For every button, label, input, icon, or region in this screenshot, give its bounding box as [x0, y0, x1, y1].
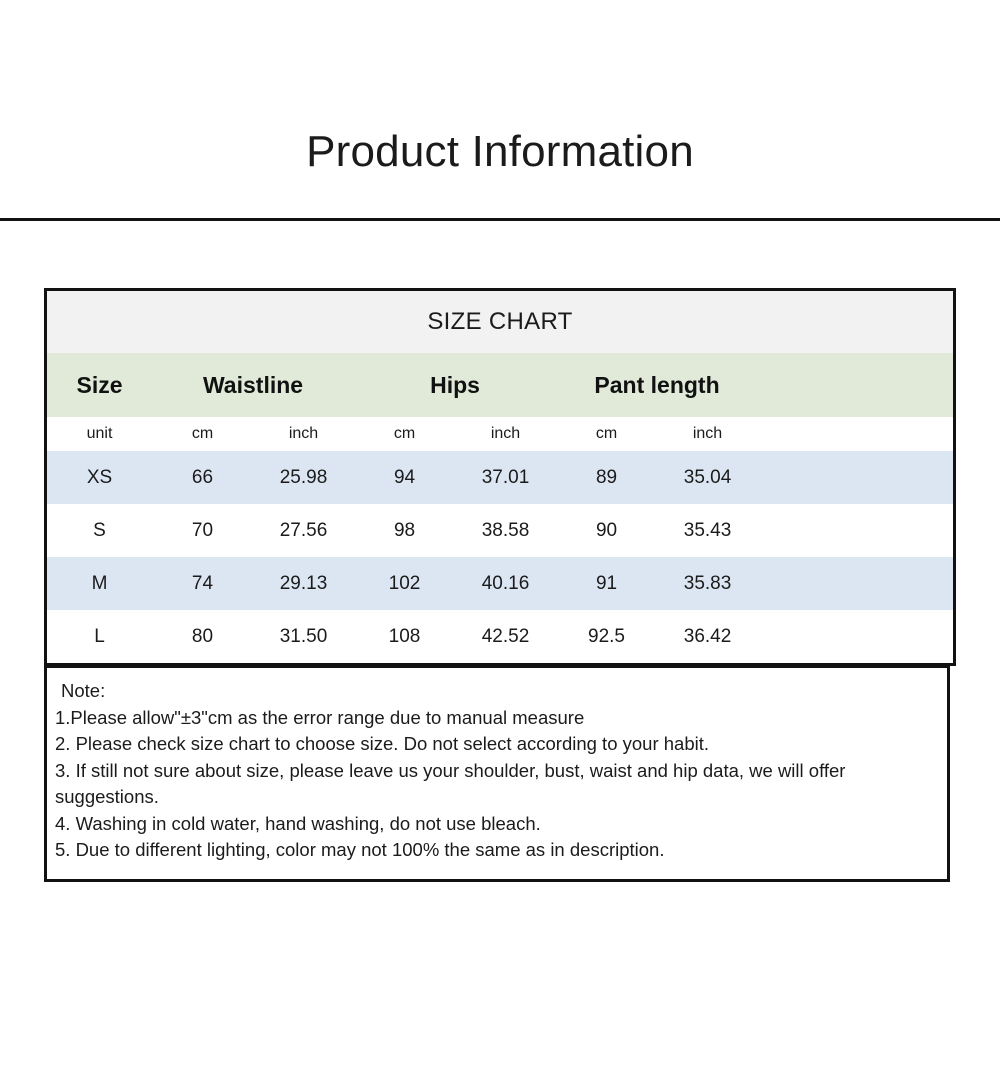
- cell-size: XS: [47, 451, 152, 504]
- cell-spacer: [758, 504, 953, 557]
- unit-cell-spacer: [758, 417, 953, 451]
- cell-hips-cm: 94: [354, 451, 455, 504]
- size-chart-banner: SIZE CHART: [47, 291, 953, 353]
- cell-hips-inch: 37.01: [455, 451, 556, 504]
- cell-waist-inch: 25.98: [253, 451, 354, 504]
- notes-heading: Note:: [55, 678, 939, 705]
- table-row: XS 66 25.98 94 37.01 89 35.04: [47, 451, 953, 504]
- unit-cell-waist-cm: cm: [152, 417, 253, 451]
- cell-spacer: [758, 610, 953, 663]
- cell-pant-inch: 36.42: [657, 610, 758, 663]
- page-title: Product Information: [0, 128, 1000, 176]
- unit-cell-hips-inch: inch: [455, 417, 556, 451]
- table-group-header-row: Size Waistline Hips Pant length: [47, 353, 953, 417]
- cell-pant-inch: 35.83: [657, 557, 758, 610]
- cell-hips-inch: 40.16: [455, 557, 556, 610]
- cell-waist-inch: 31.50: [253, 610, 354, 663]
- cell-waist-cm: 66: [152, 451, 253, 504]
- note-line-1: 1.Please allow"±3"cm as the error range …: [55, 705, 939, 732]
- size-chart-table: Size Waistline Hips Pant length unit cm …: [47, 353, 953, 663]
- title-divider-rule: [0, 218, 1000, 221]
- cell-size: L: [47, 610, 152, 663]
- cell-hips-inch: 42.52: [455, 610, 556, 663]
- cell-spacer: [758, 451, 953, 504]
- column-group-spacer: [758, 353, 953, 417]
- cell-size: S: [47, 504, 152, 557]
- cell-hips-cm: 102: [354, 557, 455, 610]
- cell-pant-cm: 90: [556, 504, 657, 557]
- cell-hips-cm: 98: [354, 504, 455, 557]
- cell-pant-inch: 35.43: [657, 504, 758, 557]
- cell-waist-cm: 74: [152, 557, 253, 610]
- cell-waist-cm: 70: [152, 504, 253, 557]
- unit-cell-hips-cm: cm: [354, 417, 455, 451]
- column-group-waistline: Waistline: [152, 353, 354, 417]
- note-line-2: 2. Please check size chart to choose siz…: [55, 731, 939, 758]
- note-line-3: 3. If still not sure about size, please …: [55, 758, 939, 811]
- size-chart-banner-title: SIZE CHART: [427, 308, 572, 336]
- note-line-4: 4. Washing in cold water, hand washing, …: [55, 811, 939, 838]
- table-row: L 80 31.50 108 42.52 92.5 36.42: [47, 610, 953, 663]
- cell-waist-cm: 80: [152, 610, 253, 663]
- cell-waist-inch: 29.13: [253, 557, 354, 610]
- unit-cell-pant-inch: inch: [657, 417, 758, 451]
- cell-spacer: [758, 557, 953, 610]
- cell-waist-inch: 27.56: [253, 504, 354, 557]
- table-row: M 74 29.13 102 40.16 91 35.83: [47, 557, 953, 610]
- table-unit-row: unit cm inch cm inch cm inch: [47, 417, 953, 451]
- unit-cell-label: unit: [47, 417, 152, 451]
- unit-cell-waist-inch: inch: [253, 417, 354, 451]
- size-chart-table-body: XS 66 25.98 94 37.01 89 35.04 S 70 27.56…: [47, 451, 953, 663]
- cell-hips-cm: 108: [354, 610, 455, 663]
- table-row: S 70 27.56 98 38.58 90 35.43: [47, 504, 953, 557]
- column-group-size: Size: [47, 353, 152, 417]
- column-group-hips: Hips: [354, 353, 556, 417]
- cell-pant-inch: 35.04: [657, 451, 758, 504]
- cell-size: M: [47, 557, 152, 610]
- unit-cell-pant-cm: cm: [556, 417, 657, 451]
- notes-box: Note: 1.Please allow"±3"cm as the error …: [44, 665, 950, 882]
- cell-pant-cm: 91: [556, 557, 657, 610]
- column-group-pant-length: Pant length: [556, 353, 758, 417]
- cell-pant-cm: 92.5: [556, 610, 657, 663]
- note-line-5: 5. Due to different lighting, color may …: [55, 837, 939, 864]
- cell-hips-inch: 38.58: [455, 504, 556, 557]
- cell-pant-cm: 89: [556, 451, 657, 504]
- size-chart-card: SIZE CHART Size Waistline Hips Pant leng…: [44, 288, 956, 666]
